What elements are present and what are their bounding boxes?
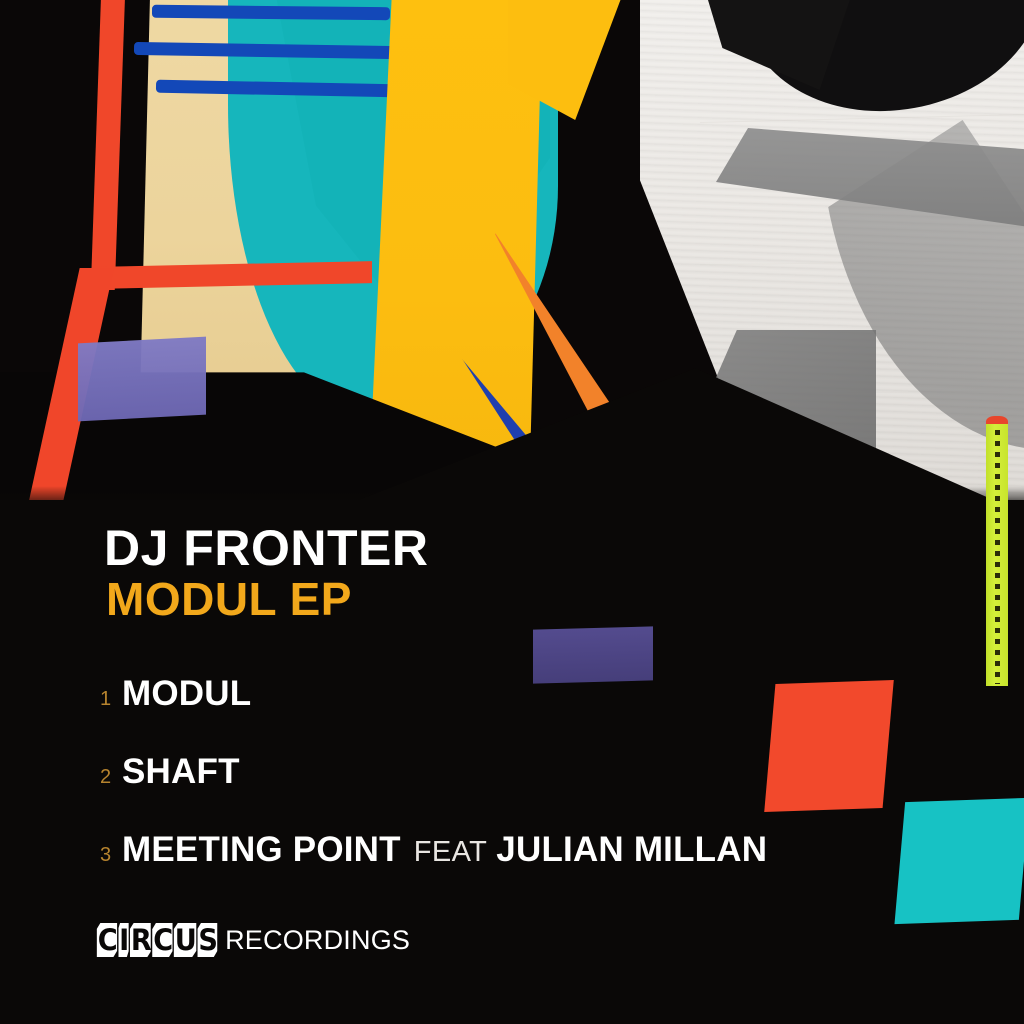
track-feat-artist: JULIAN MILLAN: [496, 832, 767, 867]
label-logo: CIRCUS RECORDINGS: [99, 923, 410, 957]
logo-letter: R: [130, 923, 151, 957]
track-feat-label: FEAT: [414, 838, 488, 867]
label-name-secondary: RECORDINGS: [225, 925, 410, 956]
release-title: MODUL EP: [106, 576, 352, 622]
track-title: SHAFT: [122, 754, 240, 789]
label-name-primary: CIRCUS: [97, 923, 219, 957]
track-number: 3: [100, 845, 122, 865]
track-row[interactable]: 1MODUL: [100, 676, 900, 754]
track-number: 2: [100, 767, 122, 787]
logo-letter: U: [174, 923, 197, 957]
track-number: 1: [100, 689, 122, 709]
track-row[interactable]: 3MEETING POINTFEATJULIAN MILLAN: [100, 832, 900, 910]
text-overlay: DJ FRONTER MODUL EP 1MODUL2SHAFT3MEETING…: [0, 0, 1024, 1024]
logo-letter: C: [152, 923, 172, 957]
logo-letter: I: [118, 923, 129, 957]
track-row[interactable]: 2SHAFT: [100, 754, 900, 832]
track-title: MEETING POINT: [122, 832, 401, 867]
track-title: MODUL: [122, 676, 251, 711]
album-cover: DJ FRONTER MODUL EP 1MODUL2SHAFT3MEETING…: [0, 0, 1024, 1024]
artist-name: DJ FRONTER: [104, 523, 428, 573]
logo-letter: C: [97, 923, 117, 957]
logo-letter: S: [197, 923, 217, 957]
tracklist: 1MODUL2SHAFT3MEETING POINTFEATJULIAN MIL…: [100, 676, 900, 910]
